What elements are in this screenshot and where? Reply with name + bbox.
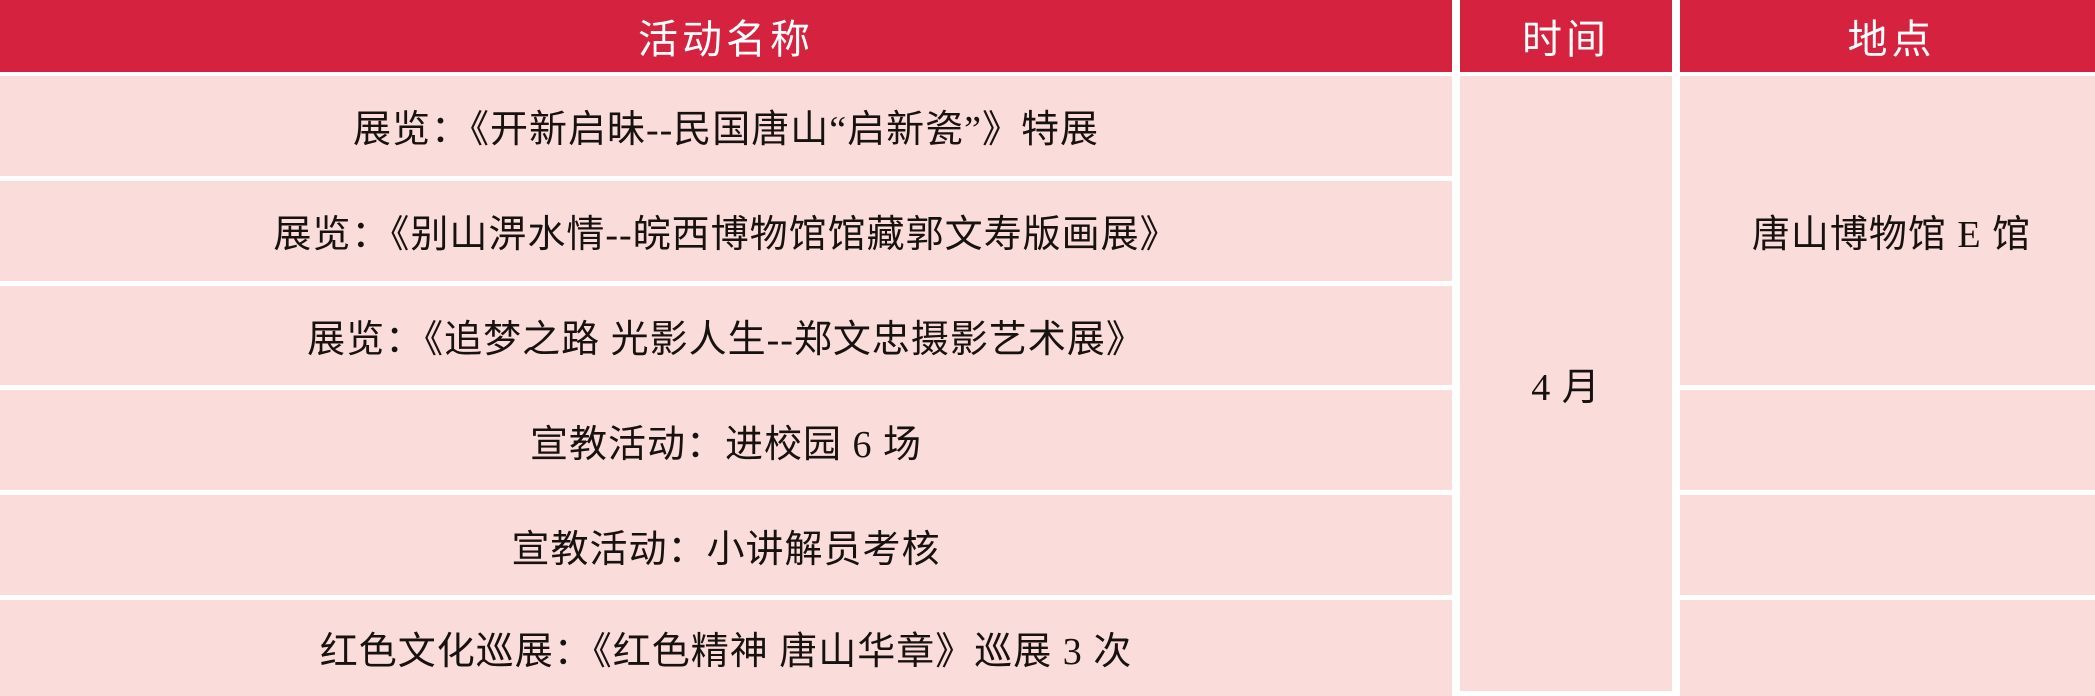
cell-location-merged: 唐山博物馆 E 馆 [1680,76,2095,390]
column-header-activity-name: 活动名称 [0,0,1460,76]
cell-activity-name: 展览：《别山淠水情--皖西博物馆馆藏郭文寿版画展》 [0,181,1460,286]
cell-activity-name: 宣教活动：小讲解员考核 [0,495,1460,600]
cell-location-empty [1680,600,2095,696]
table-header: 活动名称 时间 地点 [0,0,2095,76]
activity-schedule-table: 活动名称 时间 地点 展览：《开新启昧--民国唐山“启新瓷”》特展 4 月 唐山… [0,0,2095,696]
cell-activity-name: 红色文化巡展：《红色精神 唐山华章》巡展 3 次 [0,600,1460,696]
table-row: 红色文化巡展：《红色精神 唐山华章》巡展 3 次 [0,600,2095,696]
cell-location-empty [1680,495,2095,600]
table-body: 展览：《开新启昧--民国唐山“启新瓷”》特展 4 月 唐山博物馆 E 馆 展览：… [0,76,2095,696]
cell-activity-name: 展览：《开新启昧--民国唐山“启新瓷”》特展 [0,76,1460,181]
table-row: 宣教活动：小讲解员考核 [0,495,2095,600]
table-row: 展览：《开新启昧--民国唐山“启新瓷”》特展 4 月 唐山博物馆 E 馆 [0,76,2095,181]
cell-activity-name: 展览：《追梦之路 光影人生--郑文忠摄影艺术展》 [0,286,1460,391]
column-header-location: 地点 [1680,0,2095,76]
cell-location-empty [1680,390,2095,495]
table-header-row: 活动名称 时间 地点 [0,0,2095,76]
table-row: 宣教活动：进校园 6 场 [0,390,2095,495]
cell-time-merged: 4 月 [1460,76,1680,696]
activity-schedule-table-container: 活动名称 时间 地点 展览：《开新启昧--民国唐山“启新瓷”》特展 4 月 唐山… [0,0,2095,696]
cell-activity-name: 宣教活动：进校园 6 场 [0,390,1460,495]
column-header-time: 时间 [1460,0,1680,76]
